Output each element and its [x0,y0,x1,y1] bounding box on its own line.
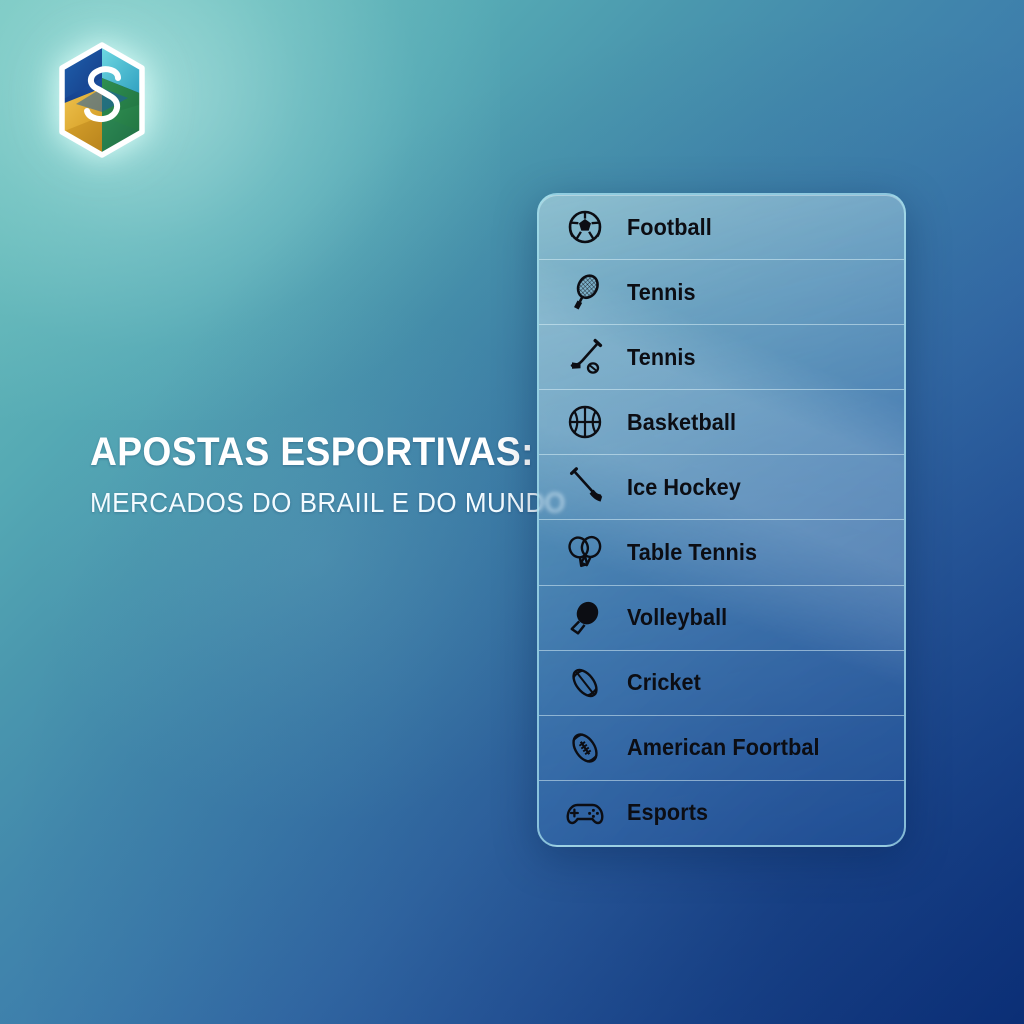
list-item-label: Esports [627,799,708,826]
hexagon-s-logo [56,42,148,158]
sports-list-panel: Football [537,193,906,847]
gamepad-icon [557,790,613,836]
list-item[interactable]: Football [539,195,904,260]
list-item-label: Table Tennis [627,539,757,566]
list-item-label: American Foortbal [627,734,820,761]
list-item[interactable]: Table Tennis [539,520,904,585]
list-item-label: Volleyball [627,604,727,631]
list-item-label: Ice Hockey [627,474,741,501]
list-item[interactable]: Ice Hockey [539,455,904,520]
table-tennis-paddles-icon [557,530,613,576]
list-item[interactable]: Volleyball [539,586,904,651]
american-football-icon [557,725,613,771]
list-item-label: Basketball [627,409,736,436]
cricket-oval-icon [557,660,613,706]
background-glow-middle [40,300,600,820]
list-item-label: Football [627,214,712,241]
poster-canvas: APOSTAS ESPORTIVAS: MERCADOS DO BRAIIL E… [0,0,1024,1024]
list-item-label: Tennis [627,279,696,306]
tennis-racket-icon [557,269,613,315]
sports-list: Football [539,195,904,845]
page-title: APOSTAS ESPORTIVAS: [90,432,527,474]
list-item[interactable]: Tennis [539,260,904,325]
list-item[interactable]: Tennis [539,325,904,390]
list-item[interactable]: Esports [539,781,904,845]
list-item[interactable]: American Foortbal [539,716,904,781]
list-item-label: Cricket [627,669,701,696]
list-item-label: Tennis [627,344,696,371]
hockey-stick-icon [557,464,613,510]
list-item[interactable]: Basketball [539,390,904,455]
soccer-ball-icon [557,204,613,250]
hockey-stick-puck-icon [557,334,613,380]
headline-block: APOSTAS ESPORTIVAS: MERCADOS DO BRAIIL E… [90,432,560,518]
ping-pong-paddle-filled-icon [557,595,613,641]
list-item[interactable]: Cricket [539,651,904,716]
page-subtitle: MERCADOS DO BRAIIL E DO MUNDO [90,488,527,519]
basketball-icon [557,399,613,445]
